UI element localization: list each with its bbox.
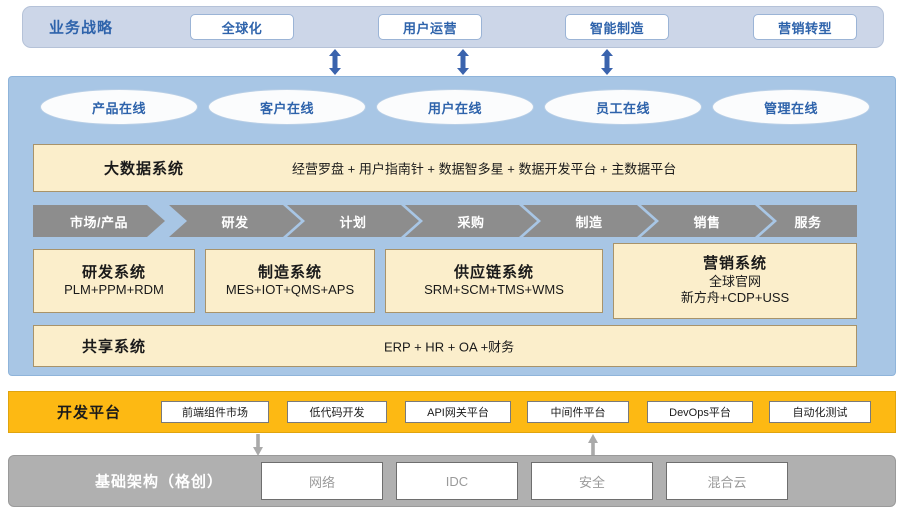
system-box-marketing[interactable]: 营销系统 全球官网 新方舟+CDP+USS bbox=[613, 243, 857, 319]
shared-system-row: 共享系统 ERP + HR + OA +财务 bbox=[33, 325, 857, 367]
business-strategy-title: 业务战略 bbox=[49, 17, 113, 38]
dev-platform-item-devops[interactable]: DevOps平台 bbox=[647, 401, 753, 423]
dev-platform-title: 开发平台 bbox=[57, 402, 121, 423]
online-item-management[interactable]: 管理在线 bbox=[712, 89, 870, 125]
infrastructure-item-hybrid-cloud[interactable]: 混合云 bbox=[666, 462, 788, 500]
business-strategy-band: 业务战略 全球化 用户运营 智能制造 营销转型 bbox=[22, 6, 884, 48]
bigdata-system-row: 大数据系统 经营罗盘 + 用户指南针 + 数据智多星 + 数据开发平台 + 主数… bbox=[33, 144, 857, 192]
architecture-diagram: 业务战略 全球化 用户运营 智能制造 营销转型 产品在线 客户在线 用户在线 员… bbox=[0, 0, 904, 524]
system-box-rnd[interactable]: 研发系统 PLM+PPM+RDM bbox=[33, 249, 195, 313]
strategy-item-globalization[interactable]: 全球化 bbox=[190, 14, 294, 40]
process-step-rnd[interactable]: 研发 bbox=[169, 205, 301, 237]
double-arrow-up-down-icon-2 bbox=[456, 49, 470, 75]
system-box-manufacturing[interactable]: 制造系统 MES+IOT+QMS+APS bbox=[205, 249, 375, 313]
system-box-supply-chain-sub1: SRM+SCM+TMS+WMS bbox=[424, 282, 564, 298]
system-box-supply-chain-title: 供应链系统 bbox=[454, 264, 534, 283]
system-box-rnd-sub1: PLM+PPM+RDM bbox=[64, 282, 164, 298]
strategy-item-smart-manufacturing[interactable]: 智能制造 bbox=[565, 14, 669, 40]
strategy-item-marketing-transformation[interactable]: 营销转型 bbox=[753, 14, 857, 40]
dev-platform-item-automated-test[interactable]: 自动化测试 bbox=[769, 401, 871, 423]
bigdata-system-components: 经营罗盘 + 用户指南针 + 数据智多星 + 数据开发平台 + 主数据平台 bbox=[292, 159, 676, 178]
infrastructure-item-idc[interactable]: IDC bbox=[396, 462, 518, 500]
dev-platform-band: 开发平台 前端组件市场 低代码开发 API网关平台 中间件平台 DevOps平台… bbox=[8, 391, 896, 433]
process-step-manufacturing[interactable]: 制造 bbox=[523, 205, 655, 237]
system-box-manufacturing-sub1: MES+IOT+QMS+APS bbox=[226, 282, 354, 298]
infrastructure-item-security[interactable]: 安全 bbox=[531, 462, 653, 500]
shared-system-components: ERP + HR + OA +财务 bbox=[384, 337, 514, 356]
online-item-customer[interactable]: 客户在线 bbox=[208, 89, 366, 125]
system-box-manufacturing-title: 制造系统 bbox=[258, 264, 322, 283]
dev-platform-item-low-code[interactable]: 低代码开发 bbox=[287, 401, 387, 423]
system-box-marketing-sub2: 新方舟+CDP+USS bbox=[681, 290, 789, 306]
process-step-service[interactable]: 服务 bbox=[759, 205, 857, 237]
online-item-employee[interactable]: 员工在线 bbox=[544, 89, 702, 125]
online-item-user[interactable]: 用户在线 bbox=[376, 89, 534, 125]
double-arrow-up-down-icon-3 bbox=[600, 49, 614, 75]
process-step-procurement[interactable]: 采购 bbox=[405, 205, 537, 237]
process-step-market-product[interactable]: 市场/产品 bbox=[33, 205, 165, 237]
system-box-marketing-sub1: 全球官网 bbox=[709, 274, 761, 290]
dev-platform-item-middleware[interactable]: 中间件平台 bbox=[527, 401, 629, 423]
infrastructure-band: 基础架构（格创） 网络 IDC 安全 混合云 bbox=[8, 455, 896, 507]
arrow-down-icon bbox=[253, 434, 263, 456]
dev-platform-item-api-gateway[interactable]: API网关平台 bbox=[405, 401, 511, 423]
system-box-rnd-title: 研发系统 bbox=[82, 264, 146, 283]
system-box-marketing-title: 营销系统 bbox=[703, 255, 767, 274]
double-arrow-up-down-icon-1 bbox=[328, 49, 342, 75]
infrastructure-item-network[interactable]: 网络 bbox=[261, 462, 383, 500]
dev-platform-item-frontend-component-market[interactable]: 前端组件市场 bbox=[161, 401, 269, 423]
bigdata-system-label: 大数据系统 bbox=[104, 158, 184, 179]
online-item-product[interactable]: 产品在线 bbox=[40, 89, 198, 125]
system-box-supply-chain[interactable]: 供应链系统 SRM+SCM+TMS+WMS bbox=[385, 249, 603, 313]
infrastructure-title: 基础架构（格创） bbox=[95, 471, 223, 492]
shared-system-label: 共享系统 bbox=[82, 336, 146, 357]
process-step-plan[interactable]: 计划 bbox=[287, 205, 419, 237]
strategy-item-user-operation[interactable]: 用户运营 bbox=[378, 14, 482, 40]
arrow-up-icon bbox=[588, 434, 598, 456]
process-step-sales[interactable]: 销售 bbox=[641, 205, 773, 237]
value-chain-process-bar: 市场/产品 研发 计划 采购 制造 销售 服务 bbox=[33, 205, 857, 237]
